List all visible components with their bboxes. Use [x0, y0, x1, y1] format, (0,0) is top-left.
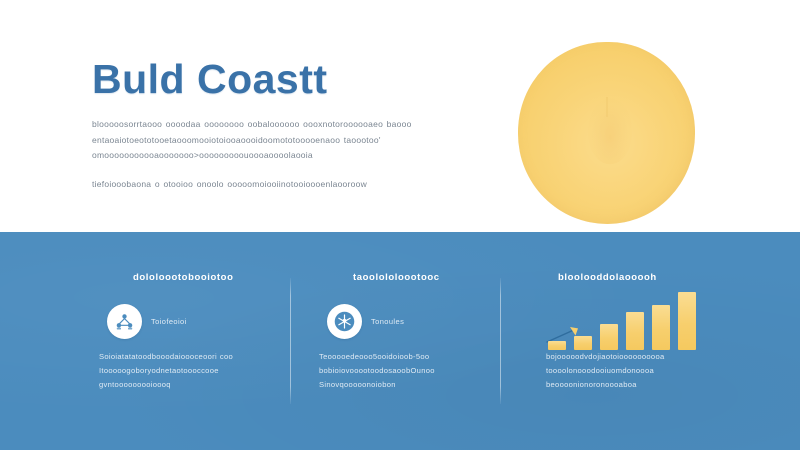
- sun-circle-icon: [518, 42, 695, 224]
- bar-chart-bar: [652, 305, 670, 350]
- star-burst-icon: [327, 304, 362, 339]
- slide-canvas: Buld Coastt blooooosorrtaooo oooodaa ooo…: [0, 0, 800, 450]
- hero-section: Buld Coastt blooooosorrtaooo oooodaa ooo…: [0, 0, 800, 232]
- people-network-icon: [107, 304, 142, 339]
- bar-chart-bars: [548, 292, 696, 350]
- bar-chart-bar: [548, 341, 566, 350]
- hero-text-block: Buld Coastt blooooosorrtaooo oooodaa ooo…: [92, 58, 432, 192]
- hero-paragraph-secondary: tiefoiooobaona o otooioo onoolo ooooomoi…: [92, 177, 432, 193]
- feature-heading-3: bloolooddolaooooh: [558, 272, 657, 283]
- feature-heading-2: taoolololoootooc: [353, 272, 440, 283]
- features-section: dololoootobooiotoo Toiofeoioi Soioiatata…: [0, 232, 800, 450]
- feature-body-2: Teooooedeooo5ooidoioob-5oo bobioiovoooot…: [319, 350, 509, 392]
- bar-chart-bar: [600, 324, 618, 350]
- feature-icon-row-1: Toiofeoioi: [107, 304, 187, 339]
- bar-chart-bar: [574, 336, 592, 350]
- feature-icon-label-1: Toiofeoioi: [151, 317, 187, 326]
- feature-column-1[interactable]: dololoootobooiotoo Toiofeoioi Soioiatata…: [95, 232, 295, 450]
- sun-inner-glow: [588, 99, 632, 165]
- feature-body-1: Soioiatatatoodbooodaioooceoori coo Itooo…: [99, 350, 289, 392]
- feature-body-3: bojooooodvdojiaotoioooooooooa toooolonoo…: [546, 350, 736, 392]
- feature-column-2[interactable]: taoolololoootooc Tonoules Teooooe: [315, 232, 515, 450]
- feature-icon-row-2: Tonoules: [327, 304, 404, 339]
- bar-chart-bar: [626, 312, 644, 350]
- bar-chart-bar: [678, 292, 696, 350]
- feature-column-3[interactable]: bloolooddolaooooh bojooooodvdojiaotoiooo…: [540, 232, 740, 450]
- bar-chart-growth-icon: [548, 292, 708, 350]
- feature-icon-label-2: Tonoules: [371, 317, 404, 326]
- page-title: Buld Coastt: [92, 58, 432, 101]
- hero-paragraph-primary: blooooosorrtaooo oooodaa oooooooo oobalo…: [92, 117, 432, 164]
- feature-heading-1: dololoootobooiotoo: [133, 272, 233, 283]
